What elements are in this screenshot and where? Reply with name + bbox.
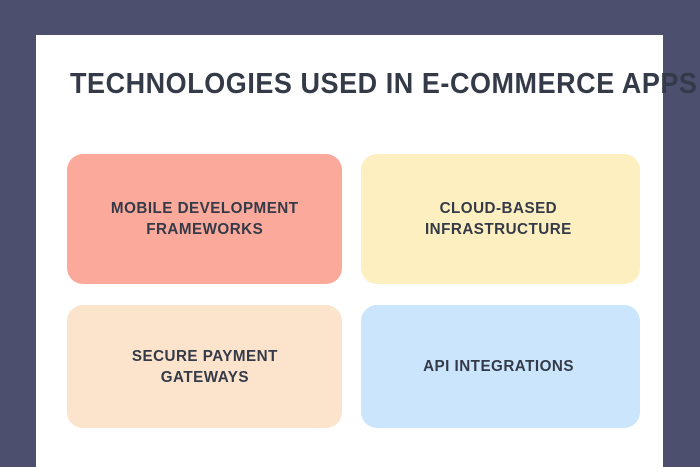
- technology-card-label: SECURE PAYMENT GATEWAYS: [131, 346, 277, 388]
- page-title: TECHNOLOGIES USED IN E-COMMERCE APPS: [70, 68, 591, 100]
- technology-card-secure-payment-gateways[interactable]: SECURE PAYMENT GATEWAYS: [67, 305, 342, 428]
- technology-card-label: MOBILE DEVELOPMENT FRAMEWORKS: [111, 198, 299, 240]
- infographic-poster: TECHNOLOGIES USED IN E-COMMERCE APPS MOB…: [0, 0, 700, 467]
- content-panel: TECHNOLOGIES USED IN E-COMMERCE APPS MOB…: [36, 35, 663, 467]
- technology-card-cloud-based-infrastructure[interactable]: CLOUD-BASED INFRASTRUCTURE: [361, 154, 640, 284]
- technology-card-label: API INTEGRATIONS: [423, 356, 574, 377]
- technology-card-mobile-development-frameworks[interactable]: MOBILE DEVELOPMENT FRAMEWORKS: [67, 154, 342, 284]
- technology-card-api-integrations[interactable]: API INTEGRATIONS: [361, 305, 640, 428]
- technology-card-label: CLOUD-BASED INFRASTRUCTURE: [425, 198, 572, 240]
- technology-card-grid: MOBILE DEVELOPMENT FRAMEWORKS CLOUD-BASE…: [67, 154, 640, 428]
